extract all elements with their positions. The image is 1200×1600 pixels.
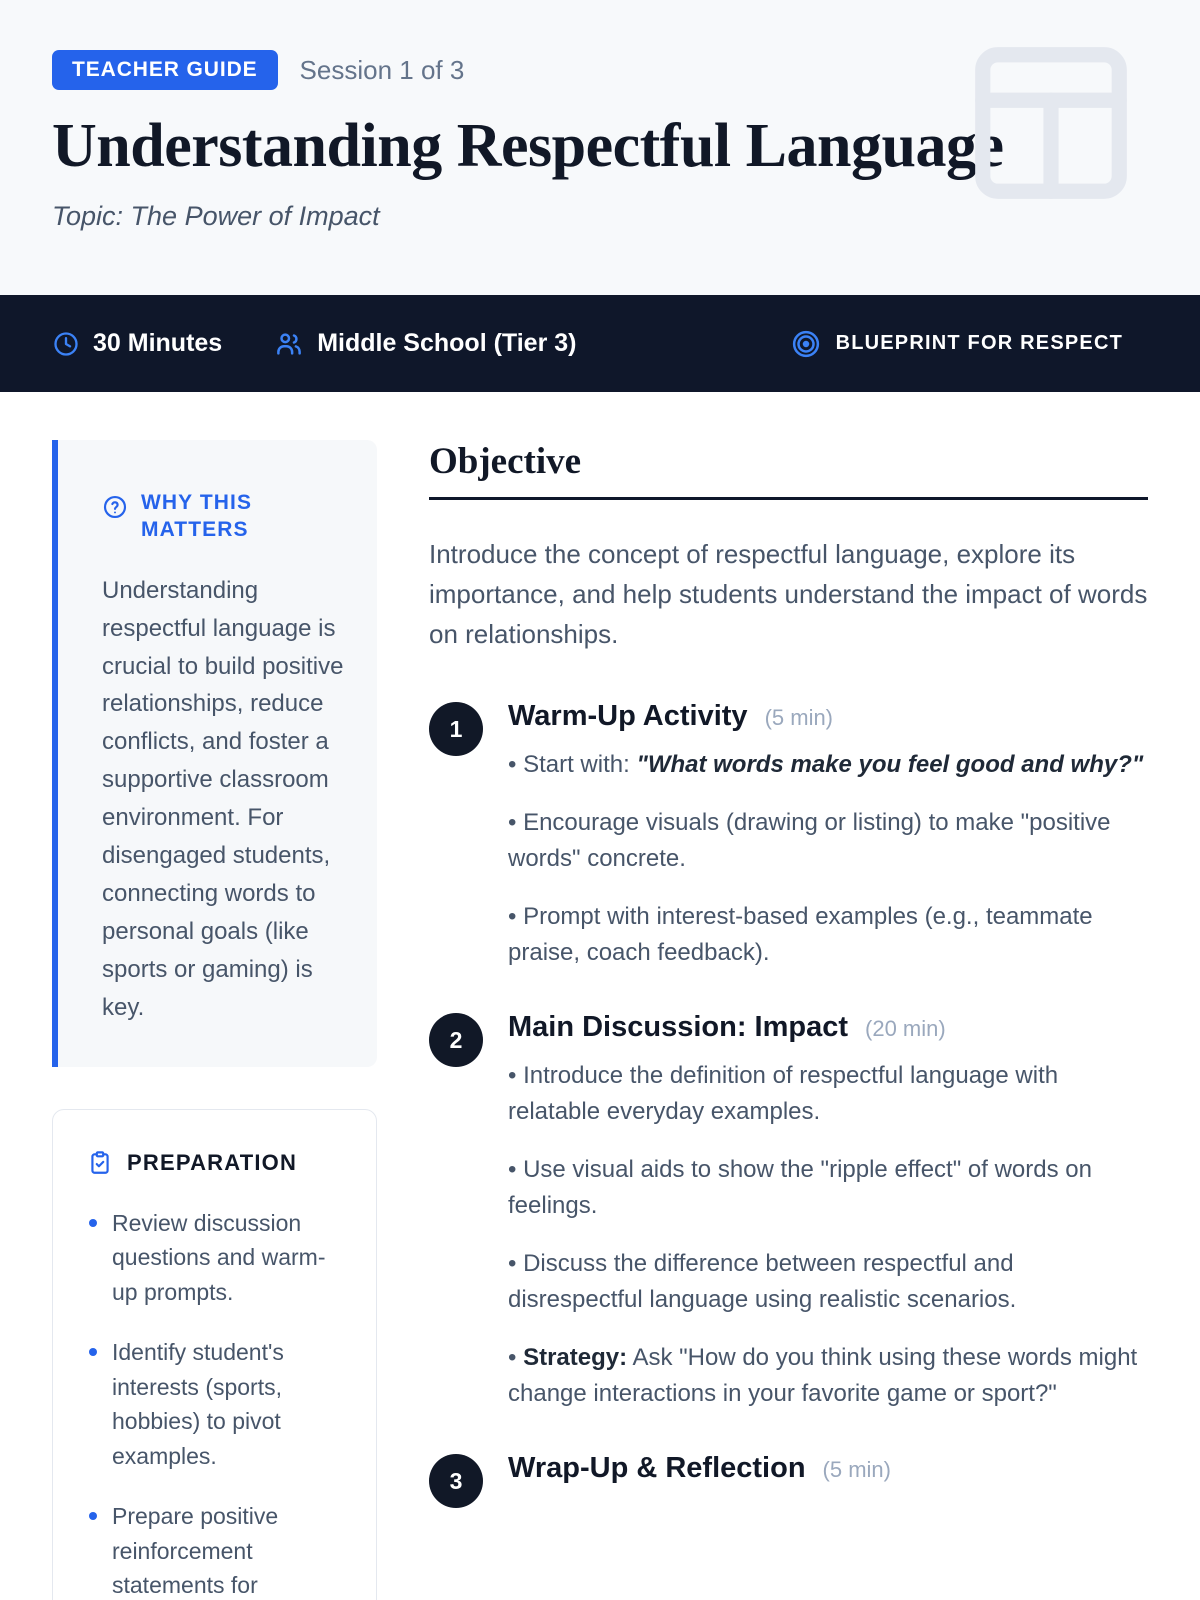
teacher-guide-page: TEACHER GUIDE Session 1 of 3 Understandi… [0,0,1200,1600]
target-icon [791,329,821,359]
why-card-body: Understanding respectful language is cru… [102,572,347,1027]
preparation-card-header: PREPARATION [87,1150,348,1176]
meta-bar-left: 30 Minutes Middle School (Tier 3) [52,329,577,359]
step-bullets: • Start with: "What words make you feel … [508,747,1148,971]
bullet-item: • Use visual aids to show the "ripple ef… [508,1152,1148,1224]
meta-duration: 30 Minutes [52,329,222,358]
page-body: WHY THIS MATTERS Understanding respectfu… [0,392,1200,1600]
step-body: Wrap-Up & Reflection (5 min) [508,1452,1148,1508]
users-icon [274,329,304,359]
objective-heading: Objective [429,440,1148,500]
step-title: Wrap-Up & Reflection [508,1452,806,1485]
sidebar: WHY THIS MATTERS Understanding respectfu… [52,440,377,1600]
step-title: Warm-Up Activity [508,700,748,733]
step-title: Main Discussion: Impact [508,1011,848,1044]
preparation-card: PREPARATION Review discussion questions … [52,1109,377,1600]
meta-program: BLUEPRINT FOR RESPECT [791,329,1148,359]
preparation-card-title: PREPARATION [127,1150,297,1176]
teacher-guide-badge: TEACHER GUIDE [52,50,278,90]
meta-program-label: BLUEPRINT FOR RESPECT [836,332,1123,355]
step-item: 2 Main Discussion: Impact (20 min) • Int… [429,1011,1148,1412]
clock-icon [52,330,80,358]
list-item: Review discussion questions and warm-up … [87,1206,348,1310]
meta-audience: Middle School (Tier 3) [274,329,576,359]
page-header: TEACHER GUIDE Session 1 of 3 Understandi… [0,0,1200,295]
header-eyebrow: TEACHER GUIDE Session 1 of 3 [52,50,1148,90]
main-content: Objective Introduce the concept of respe… [429,440,1148,1600]
step-number-badge: 2 [429,1013,483,1067]
bullet-item: • Prompt with interest-based examples (e… [508,899,1148,971]
bullet-emphasis: "What words make you feel good and why?" [636,751,1143,778]
preparation-list: Review discussion questions and warm-up … [87,1206,348,1600]
step-header: Main Discussion: Impact (20 min) [508,1011,1148,1044]
bullet-item: • Start with: "What words make you feel … [508,747,1148,783]
meta-bar: 30 Minutes Middle School (Tier 3) [0,295,1200,392]
session-counter: Session 1 of 3 [300,55,465,86]
bullet-item: • Encourage visuals (drawing or listing)… [508,805,1148,877]
bullet-item: • Strategy: Ask "How do you think using … [508,1340,1148,1412]
page-title: Understanding Respectful Language [52,114,1148,179]
step-header: Warm-Up Activity (5 min) [508,700,1148,733]
why-card-header: WHY THIS MATTERS [102,490,347,544]
bullet-item: • Introduce the definition of respectful… [508,1058,1148,1130]
bullet-item: • Discuss the difference between respect… [508,1246,1148,1318]
step-duration: (5 min) [765,705,833,731]
clipboard-check-icon [87,1150,113,1176]
list-item: Prepare positive reinforcement statement… [87,1499,348,1600]
bullet-strong: Strategy: [523,1344,627,1371]
step-item: 1 Warm-Up Activity (5 min) • Start with:… [429,700,1148,971]
help-circle-icon [102,494,128,520]
step-body: Warm-Up Activity (5 min) • Start with: "… [508,700,1148,971]
list-item: Identify student's interests (sports, ho… [87,1335,348,1473]
meta-audience-label: Middle School (Tier 3) [317,329,576,358]
step-body: Main Discussion: Impact (20 min) • Intro… [508,1011,1148,1412]
meta-duration-label: 30 Minutes [93,329,222,358]
objective-text: Introduce the concept of respectful lang… [429,534,1148,654]
page-subtitle: Topic: The Power of Impact [52,201,1148,232]
why-this-matters-card: WHY THIS MATTERS Understanding respectfu… [52,440,377,1067]
step-duration: (5 min) [823,1457,891,1483]
why-card-title: WHY THIS MATTERS [141,490,281,544]
step-number-badge: 3 [429,1454,483,1508]
step-bullets: • Introduce the definition of respectful… [508,1058,1148,1412]
step-number-badge: 1 [429,702,483,756]
steps-list: 1 Warm-Up Activity (5 min) • Start with:… [429,700,1148,1508]
step-item: 3 Wrap-Up & Reflection (5 min) [429,1452,1148,1508]
step-header: Wrap-Up & Reflection (5 min) [508,1452,1148,1485]
step-duration: (20 min) [865,1016,946,1042]
